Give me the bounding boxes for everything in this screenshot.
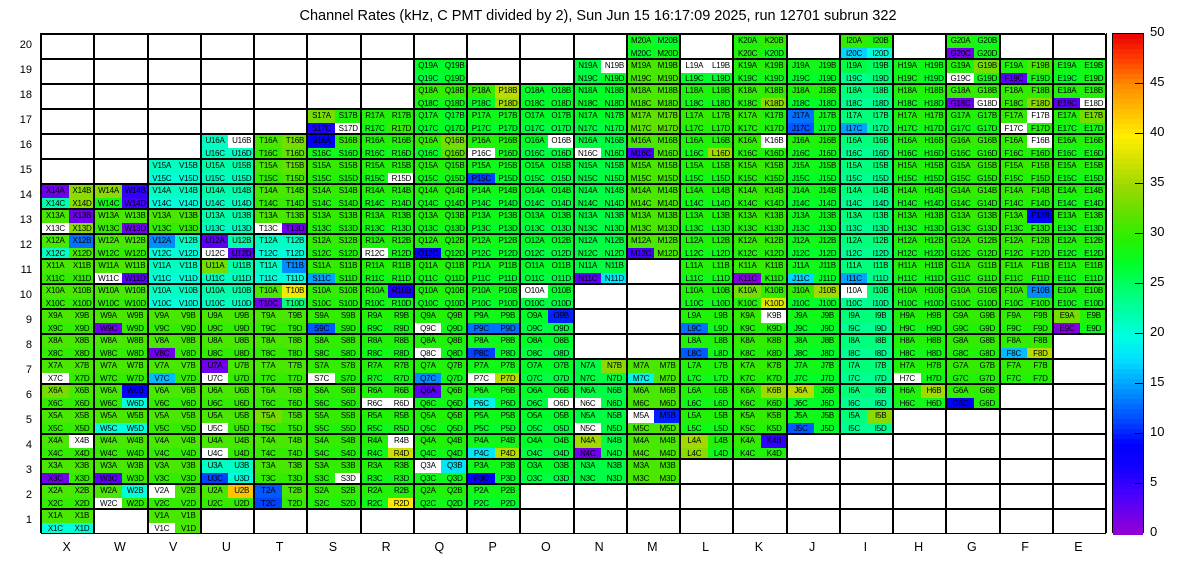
channel-U10C[interactable]: U10C	[202, 298, 229, 310]
grid-cell-K8[interactable]: K8AK8BK8CK8D	[733, 334, 786, 359]
grid-cell-Q14[interactable]: Q14AQ14BQ14CQ14D	[414, 184, 467, 209]
grid-cell-H11[interactable]: H11AH11BH11CH11D	[893, 259, 946, 284]
grid-cell-I12[interactable]: I12AI12BI12CI12D	[840, 234, 893, 259]
channel-R4B[interactable]: R4B	[388, 435, 414, 448]
channel-Q19D[interactable]: Q19D	[441, 73, 467, 85]
grid-cell-M7[interactable]: M7AM7BM7CM7D	[627, 359, 680, 384]
channel-I5A[interactable]: I5A	[841, 410, 868, 423]
channel-J14C[interactable]: J14C	[788, 198, 815, 210]
channel-O16B[interactable]: O16B	[548, 135, 574, 148]
channel-S12C[interactable]: S12C	[308, 248, 335, 260]
channel-P17C[interactable]: P17C	[468, 123, 495, 135]
grid-cell-G20[interactable]: G20AG20BG20CG20D	[946, 34, 999, 59]
channel-W2A[interactable]: W2A	[95, 485, 122, 498]
channel-K5C[interactable]: K5C	[734, 423, 761, 435]
channel-J15C[interactable]: J15C	[788, 173, 815, 185]
grid-cell-R17[interactable]: R17AR17BR17CR17D	[361, 109, 414, 134]
channel-T5A[interactable]: T5A	[255, 410, 282, 423]
grid-cell-V6[interactable]: V6AV6BV6CV6D	[148, 384, 201, 409]
channel-M17B[interactable]: M17B	[654, 110, 680, 123]
channel-K16D[interactable]: K16D	[761, 148, 787, 160]
channel-U13D[interactable]: U13D	[228, 223, 254, 235]
channel-L13B[interactable]: L13B	[708, 210, 734, 223]
channel-V1D[interactable]: V1D	[175, 523, 201, 535]
channel-S5D[interactable]: S5D	[335, 423, 361, 435]
channel-F17D[interactable]: F17D	[1027, 123, 1053, 135]
grid-cell-K12[interactable]: K12AK12BK12CK12D	[733, 234, 786, 259]
channel-R6B[interactable]: R6B	[388, 385, 414, 398]
grid-cell-T16[interactable]: T16AT16BT16CT16D	[254, 134, 307, 159]
channel-F14A[interactable]: F14A	[1001, 185, 1028, 198]
channel-K4D[interactable]: K4D	[761, 448, 787, 460]
channel-P12B[interactable]: P12B	[495, 235, 521, 248]
channel-P9A[interactable]: P9A	[468, 310, 495, 323]
channel-H7D[interactable]: H7D	[921, 373, 947, 385]
grid-cell-U10[interactable]: U10AU10BU10CU10D	[201, 284, 254, 309]
grid-cell-V7[interactable]: V7AV7BV7CV7D	[148, 359, 201, 384]
channel-Q7D[interactable]: Q7D	[441, 373, 467, 385]
grid-cell-L15[interactable]: L15AL15BL15CL15D	[680, 159, 733, 184]
channel-U5D[interactable]: U5D	[228, 423, 254, 435]
channel-R15B[interactable]: R15B	[388, 160, 414, 173]
grid-cell-N5[interactable]: N5AN5BN5CN5D	[574, 409, 627, 434]
channel-S10B[interactable]: S10B	[335, 285, 361, 298]
grid-cell-S15[interactable]: S15AS15BS15CS15D	[307, 159, 360, 184]
channel-P17A[interactable]: P17A	[468, 110, 495, 123]
channel-F14B[interactable]: F14B	[1027, 185, 1053, 198]
channel-U6D[interactable]: U6D	[228, 398, 254, 410]
channel-J8C[interactable]: J8C	[788, 348, 815, 360]
channel-W2B[interactable]: W2B	[122, 485, 148, 498]
channel-H17A[interactable]: H17A	[894, 110, 921, 123]
channel-K19D[interactable]: K19D	[761, 73, 787, 85]
channel-W5D[interactable]: W5D	[122, 423, 148, 435]
channel-V5A[interactable]: V5A	[149, 410, 176, 423]
channel-G20D[interactable]: G20D	[974, 48, 1000, 60]
grid-cell-N6[interactable]: N6AN6BN6CN6D	[574, 384, 627, 409]
grid-cell-Q7[interactable]: Q7AQ7BQ7CQ7D	[414, 359, 467, 384]
grid-cell-N16[interactable]: N16AN16BN16CN16D	[574, 134, 627, 159]
grid-cell-T12[interactable]: T12AT12BT12CT12D	[254, 234, 307, 259]
channel-U4C[interactable]: U4C	[202, 448, 229, 460]
grid-cell-R6[interactable]: R6AR6BR6CR6D	[361, 384, 414, 409]
channel-R16D[interactable]: R16D	[388, 148, 414, 160]
grid-cell-H14[interactable]: H14AH14BH14CH14D	[893, 184, 946, 209]
channel-N11C[interactable]: N11C	[575, 273, 602, 285]
channel-J6C[interactable]: J6C	[788, 398, 815, 410]
grid-cell-X13[interactable]: X13AX13BX13CX13D	[41, 209, 94, 234]
channel-G7D[interactable]: G7D	[974, 373, 1000, 385]
grid-cell-K17[interactable]: K17AK17BK17CK17D	[733, 109, 786, 134]
channel-H8A[interactable]: H8A	[894, 335, 921, 348]
channel-K6C[interactable]: K6C	[734, 398, 761, 410]
channel-O14A[interactable]: O14A	[521, 185, 548, 198]
channel-U7B[interactable]: U7B	[228, 360, 254, 373]
grid-cell-N4[interactable]: N4AN4BN4CN4D	[574, 434, 627, 459]
channel-P10A[interactable]: P10A	[468, 285, 495, 298]
channel-P6A[interactable]: P6A	[468, 385, 495, 398]
channel-O18B[interactable]: O18B	[548, 85, 574, 98]
channel-V9C[interactable]: V9C	[149, 323, 176, 335]
channel-E9A[interactable]: E9A	[1054, 310, 1081, 323]
channel-F12B[interactable]: F12B	[1027, 235, 1053, 248]
channel-M13B[interactable]: M13B	[654, 210, 680, 223]
channel-Q16B[interactable]: Q16B	[441, 135, 467, 148]
channel-O10B[interactable]: O10B	[548, 285, 574, 298]
channel-V4B[interactable]: V4B	[175, 435, 201, 448]
grid-cell-U2[interactable]: U2AU2BU2CU2D	[201, 484, 254, 509]
channel-W3C[interactable]: W3C	[95, 473, 122, 485]
channel-P14D[interactable]: P14D	[495, 198, 521, 210]
channel-U14D[interactable]: U14D	[228, 198, 254, 210]
channel-V4C[interactable]: V4C	[149, 448, 176, 460]
channel-T14D[interactable]: T14D	[282, 198, 308, 210]
channel-J16C[interactable]: J16C	[788, 148, 815, 160]
grid-cell-J18[interactable]: J18AJ18BJ18CJ18D	[787, 84, 840, 109]
channel-P18D[interactable]: P18D	[495, 98, 521, 110]
grid-cell-O11[interactable]: O11AO11BO11CO11D	[520, 259, 573, 284]
channel-X13C[interactable]: X13C	[42, 223, 69, 235]
channel-P3B[interactable]: P3B	[495, 460, 521, 473]
channel-V4A[interactable]: V4A	[149, 435, 176, 448]
grid-cell-S9[interactable]: S9AS9BS9CS9D	[307, 309, 360, 334]
grid-cell-R2[interactable]: R2AR2BR2CR2D	[361, 484, 414, 509]
channel-F13B[interactable]: F13B	[1027, 210, 1053, 223]
grid-cell-K20[interactable]: K20AK20BK20CK20D	[733, 34, 786, 59]
channel-T10D[interactable]: T10D	[282, 298, 308, 310]
channel-Q13D[interactable]: Q13D	[441, 223, 467, 235]
channel-M7A[interactable]: M7A	[628, 360, 655, 373]
channel-W14C[interactable]: W14C	[95, 198, 122, 210]
channel-T9D[interactable]: T9D	[282, 323, 308, 335]
channel-K15C[interactable]: K15C	[734, 173, 761, 185]
channel-R15D[interactable]: R15D	[388, 173, 414, 185]
grid-cell-L7[interactable]: L7AL7BL7CL7D	[680, 359, 733, 384]
grid-cell-E19[interactable]: E19AE19BE19CE19D	[1053, 59, 1106, 84]
channel-V9B[interactable]: V9B	[175, 310, 201, 323]
channel-Q9D[interactable]: Q9D	[441, 323, 467, 335]
channel-R3A[interactable]: R3A	[362, 460, 389, 473]
channel-W5B[interactable]: W5B	[122, 410, 148, 423]
channel-V15D[interactable]: V15D	[175, 173, 201, 185]
channel-Q13B[interactable]: Q13B	[441, 210, 467, 223]
channel-U13A[interactable]: U13A	[202, 210, 229, 223]
channel-X3D[interactable]: X3D	[69, 473, 95, 485]
grid-cell-X9[interactable]: X9AX9BX9CX9D	[41, 309, 94, 334]
channel-S16B[interactable]: S16B	[335, 135, 361, 148]
channel-O4C[interactable]: O4C	[521, 448, 548, 460]
grid-cell-M4[interactable]: M4AM4BM4CM4D	[627, 434, 680, 459]
channel-O9B[interactable]: O9B	[548, 310, 574, 323]
channel-K8A[interactable]: K8A	[734, 335, 761, 348]
channel-I5B[interactable]: I5B	[867, 410, 893, 423]
channel-Q10B[interactable]: Q10B	[441, 285, 467, 298]
channel-P16B[interactable]: P16B	[495, 135, 521, 148]
channel-H13B[interactable]: H13B	[921, 210, 947, 223]
channel-W12C[interactable]: W12C	[95, 248, 122, 260]
channel-U16C[interactable]: U16C	[202, 148, 229, 160]
channel-N11A[interactable]: N11A	[575, 260, 602, 273]
grid-cell-R15[interactable]: R15AR15BR15CR15D	[361, 159, 414, 184]
channel-O11A[interactable]: O11A	[521, 260, 548, 273]
channel-V14D[interactable]: V14D	[175, 198, 201, 210]
channel-S11C[interactable]: S11C	[308, 273, 335, 285]
channel-P15D[interactable]: P15D	[495, 173, 521, 185]
grid-cell-E9[interactable]: E9AE9BE9CE9D	[1053, 309, 1106, 334]
channel-Q6B[interactable]: Q6B	[441, 385, 467, 398]
channel-K6D[interactable]: K6D	[761, 398, 787, 410]
channel-U8C[interactable]: U8C	[202, 348, 229, 360]
channel-T11B[interactable]: T11B	[282, 260, 308, 273]
grid-cell-I18[interactable]: I18AI18BI18CI18D	[840, 84, 893, 109]
grid-cell-X8[interactable]: X8AX8BX8CX8D	[41, 334, 94, 359]
channel-S13A[interactable]: S13A	[308, 210, 335, 223]
channel-E19D[interactable]: E19D	[1080, 73, 1106, 85]
channel-F17C[interactable]: F17C	[1001, 123, 1028, 135]
channel-Q8A[interactable]: Q8A	[415, 335, 442, 348]
channel-L7C[interactable]: L7C	[681, 373, 708, 385]
channel-U5C[interactable]: U5C	[202, 423, 229, 435]
channel-I18A[interactable]: I18A	[841, 85, 868, 98]
channel-L7B[interactable]: L7B	[708, 360, 734, 373]
grid-cell-R4[interactable]: R4AR4BR4CR4D	[361, 434, 414, 459]
channel-W8B[interactable]: W8B	[122, 335, 148, 348]
channel-P15C[interactable]: P15C	[468, 173, 495, 185]
channel-R2D[interactable]: R2D	[388, 498, 414, 510]
channel-M14D[interactable]: M14D	[654, 198, 680, 210]
channel-R4C[interactable]: R4C	[362, 448, 389, 460]
channel-R13D[interactable]: R13D	[388, 223, 414, 235]
channel-L12C[interactable]: L12C	[681, 248, 708, 260]
channel-W14A[interactable]: W14A	[95, 185, 122, 198]
channel-S9D[interactable]: S9D	[335, 323, 361, 335]
channel-X14D[interactable]: X14D	[69, 198, 95, 210]
channel-Q2D[interactable]: Q2D	[441, 498, 467, 510]
channel-G6C[interactable]: G6C	[947, 398, 974, 410]
channel-G17C[interactable]: G17C	[947, 123, 974, 135]
channel-E13B[interactable]: E13B	[1080, 210, 1106, 223]
grid-cell-J8[interactable]: J8AJ8BJ8CJ8D	[787, 334, 840, 359]
channel-E15C[interactable]: E15C	[1054, 173, 1081, 185]
channel-W3A[interactable]: W3A	[95, 460, 122, 473]
channel-K9C[interactable]: K9C	[734, 323, 761, 335]
channel-L16A[interactable]: L16A	[681, 135, 708, 148]
grid-cell-E14[interactable]: E14AE14BE14CE14D	[1053, 184, 1106, 209]
channel-N14D[interactable]: N14D	[601, 198, 627, 210]
channel-N6A[interactable]: N6A	[575, 385, 602, 398]
channel-T16B[interactable]: T16B	[282, 135, 308, 148]
channel-K18C[interactable]: K18C	[734, 98, 761, 110]
channel-P3C[interactable]: P3C	[468, 473, 495, 485]
channel-S4B[interactable]: S4B	[335, 435, 361, 448]
channel-G16D[interactable]: G16D	[974, 148, 1000, 160]
channel-I7C[interactable]: I7C	[841, 373, 868, 385]
grid-cell-V8[interactable]: V8AV8BV8CV8D	[148, 334, 201, 359]
channel-Q12C[interactable]: Q12C	[415, 248, 442, 260]
channel-M17A[interactable]: M17A	[628, 110, 655, 123]
channel-P11B[interactable]: P11B	[495, 260, 521, 273]
channel-X12A[interactable]: X12A	[42, 235, 69, 248]
channel-S7A[interactable]: S7A	[308, 360, 335, 373]
channel-I15C[interactable]: I15C	[841, 173, 868, 185]
channel-E15B[interactable]: E15B	[1080, 160, 1106, 173]
channel-F19A[interactable]: F19A	[1001, 60, 1028, 73]
channel-X5D[interactable]: X5D	[69, 423, 95, 435]
channel-S16C[interactable]: S16C	[308, 148, 335, 160]
channel-T8A[interactable]: T8A	[255, 335, 282, 348]
grid-cell-W8[interactable]: W8AW8BW8CW8D	[94, 334, 147, 359]
channel-K12C[interactable]: K12C	[734, 248, 761, 260]
channel-U7A[interactable]: U7A	[202, 360, 229, 373]
channel-O13A[interactable]: O13A	[521, 210, 548, 223]
channel-H18D[interactable]: H18D	[921, 98, 947, 110]
channel-R10D[interactable]: R10D	[388, 298, 414, 310]
channel-R3D[interactable]: R3D	[388, 473, 414, 485]
grid-cell-U14[interactable]: U14AU14BU14CU14D	[201, 184, 254, 209]
grid-cell-R16[interactable]: R16AR16BR16CR16D	[361, 134, 414, 159]
channel-Q4A[interactable]: Q4A	[415, 435, 442, 448]
grid-cell-R13[interactable]: R13AR13BR13CR13D	[361, 209, 414, 234]
channel-O16A[interactable]: O16A	[521, 135, 548, 148]
channel-G9C[interactable]: G9C	[947, 323, 974, 335]
grid-cell-I5[interactable]: I5AI5BI5CI5D	[840, 409, 893, 434]
channel-E19B[interactable]: E19B	[1080, 60, 1106, 73]
grid-cell-S6[interactable]: S6AS6BS6CS6D	[307, 384, 360, 409]
channel-V11B[interactable]: V11B	[175, 260, 201, 273]
grid-cell-K18[interactable]: K18AK18BK18CK18D	[733, 84, 786, 109]
grid-cell-P17[interactable]: P17AP17BP17CP17D	[467, 109, 520, 134]
channel-U9B[interactable]: U9B	[228, 310, 254, 323]
channel-N4C[interactable]: N4C	[575, 448, 602, 460]
channel-H11B[interactable]: H11B	[921, 260, 947, 273]
channel-G8C[interactable]: G8C	[947, 348, 974, 360]
channel-N15A[interactable]: N15A	[575, 160, 602, 173]
channel-Q8D[interactable]: Q8D	[441, 348, 467, 360]
channel-K11D[interactable]: K11D	[761, 273, 787, 285]
channel-G13B[interactable]: G13B	[974, 210, 1000, 223]
channel-V12D[interactable]: V12D	[175, 248, 201, 260]
channel-N19C[interactable]: N19C	[575, 73, 602, 85]
channel-W8A[interactable]: W8A	[95, 335, 122, 348]
channel-X8D[interactable]: X8D	[69, 348, 95, 360]
grid-cell-X4[interactable]: X4AX4BX4CX4D	[41, 434, 94, 459]
channel-P2B[interactable]: P2B	[495, 485, 521, 498]
channel-E18A[interactable]: E18A	[1054, 85, 1081, 98]
channel-U4D[interactable]: U4D	[228, 448, 254, 460]
channel-L12A[interactable]: L12A	[681, 235, 708, 248]
channel-Q13C[interactable]: Q13C	[415, 223, 442, 235]
channel-V13B[interactable]: V13B	[175, 210, 201, 223]
grid-cell-M6[interactable]: M6AM6BM6CM6D	[627, 384, 680, 409]
grid-cell-U7[interactable]: U7AU7BU7CU7D	[201, 359, 254, 384]
channel-F7B[interactable]: F7B	[1027, 360, 1053, 373]
channel-O5A[interactable]: O5A	[521, 410, 548, 423]
grid-cell-H17[interactable]: H17AH17BH17CH17D	[893, 109, 946, 134]
channel-K8D[interactable]: K8D	[761, 348, 787, 360]
channel-W7C[interactable]: W7C	[95, 373, 122, 385]
channel-E16A[interactable]: E16A	[1054, 135, 1081, 148]
channel-G6A[interactable]: G6A	[947, 385, 974, 398]
channel-T2B[interactable]: T2B	[282, 485, 308, 498]
channel-V1A[interactable]: V1A	[149, 510, 176, 523]
channel-L6C[interactable]: L6C	[681, 398, 708, 410]
channel-T15C[interactable]: T15C	[255, 173, 282, 185]
channel-X12D[interactable]: X12D	[69, 248, 95, 260]
channel-W9D[interactable]: W9D	[122, 323, 148, 335]
channel-U8A[interactable]: U8A	[202, 335, 229, 348]
grid-cell-X3[interactable]: X3AX3BX3CX3D	[41, 459, 94, 484]
channel-P3A[interactable]: P3A	[468, 460, 495, 473]
channel-O15C[interactable]: O15C	[521, 173, 548, 185]
grid-cell-L19[interactable]: L19AL19BL19CL19D	[680, 59, 733, 84]
grid-cell-P4[interactable]: P4AP4BP4CP4D	[467, 434, 520, 459]
channel-I9A[interactable]: I9A	[841, 310, 868, 323]
channel-K20C[interactable]: K20C	[734, 48, 761, 60]
channel-O8D[interactable]: O8D	[548, 348, 574, 360]
channel-Q17C[interactable]: Q17C	[415, 123, 442, 135]
channel-J18A[interactable]: J18A	[788, 85, 815, 98]
channel-S7C[interactable]: S7C	[308, 373, 335, 385]
channel-K15D[interactable]: K15D	[761, 173, 787, 185]
grid-cell-M5[interactable]: M5AM5BM5CM5D	[627, 409, 680, 434]
channel-X7D[interactable]: X7D	[69, 373, 95, 385]
channel-P8D[interactable]: P8D	[495, 348, 521, 360]
channel-R12B[interactable]: R12B	[388, 235, 414, 248]
channel-L15A[interactable]: L15A	[681, 160, 708, 173]
channel-I7A[interactable]: I7A	[841, 360, 868, 373]
channel-E17C[interactable]: E17C	[1054, 123, 1081, 135]
channel-U11B[interactable]: U11B	[228, 260, 254, 273]
channel-H19C[interactable]: H19C	[894, 73, 921, 85]
channel-O16D[interactable]: O16D	[548, 148, 574, 160]
channel-O8C[interactable]: O8C	[521, 348, 548, 360]
grid-cell-N14[interactable]: N14AN14BN14CN14D	[574, 184, 627, 209]
grid-cell-L11[interactable]: L11AL11BL11CL11D	[680, 259, 733, 284]
grid-cell-P2[interactable]: P2AP2BP2CP2D	[467, 484, 520, 509]
channel-W7A[interactable]: W7A	[95, 360, 122, 373]
grid-cell-P18[interactable]: P18AP18BP18CP18D	[467, 84, 520, 109]
channel-P12D[interactable]: P12D	[495, 248, 521, 260]
channel-Q5D[interactable]: Q5D	[441, 423, 467, 435]
channel-H12D[interactable]: H12D	[921, 248, 947, 260]
channel-L5A[interactable]: L5A	[681, 410, 708, 423]
channel-T16C[interactable]: T16C	[255, 148, 282, 160]
channel-J19B[interactable]: J19B	[814, 60, 840, 73]
channel-N16B[interactable]: N16B	[601, 135, 627, 148]
channel-O5D[interactable]: O5D	[548, 423, 574, 435]
channel-V6A[interactable]: V6A	[149, 385, 176, 398]
channel-R12C[interactable]: R12C	[362, 248, 389, 260]
grid-cell-Q18[interactable]: Q18AQ18BQ18CQ18D	[414, 84, 467, 109]
channel-V6B[interactable]: V6B	[175, 385, 201, 398]
channel-W9A[interactable]: W9A	[95, 310, 122, 323]
grid-cell-K15[interactable]: K15AK15BK15CK15D	[733, 159, 786, 184]
channel-I12A[interactable]: I12A	[841, 235, 868, 248]
channel-V6D[interactable]: V6D	[175, 398, 201, 410]
channel-V15C[interactable]: V15C	[149, 173, 176, 185]
channel-J13D[interactable]: J13D	[814, 223, 840, 235]
channel-G7C[interactable]: G7C	[947, 373, 974, 385]
grid-cell-O8[interactable]: O8AO8BO8CO8D	[520, 334, 573, 359]
channel-S8B[interactable]: S8B	[335, 335, 361, 348]
channel-F13D[interactable]: F13D	[1027, 223, 1053, 235]
channel-Q4D[interactable]: Q4D	[441, 448, 467, 460]
channel-K18B[interactable]: K18B	[761, 85, 787, 98]
channel-I12B[interactable]: I12B	[867, 235, 893, 248]
grid-cell-S12[interactable]: S12AS12BS12CS12D	[307, 234, 360, 259]
grid-cell-T15[interactable]: T15AT15BT15CT15D	[254, 159, 307, 184]
grid-cell-N3[interactable]: N3AN3BN3CN3D	[574, 459, 627, 484]
